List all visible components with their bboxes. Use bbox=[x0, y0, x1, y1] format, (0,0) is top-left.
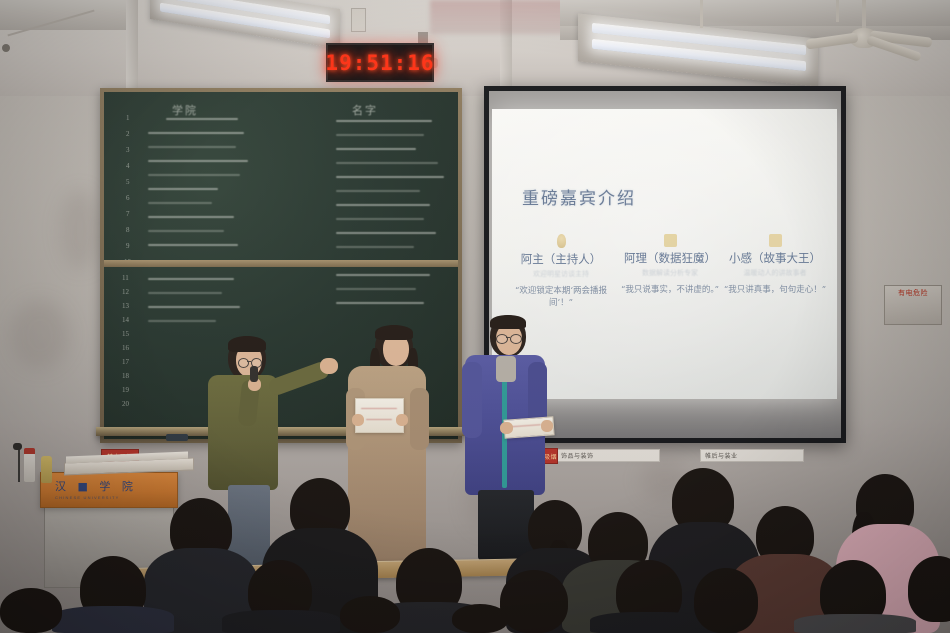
podium-front-panel: 汉 ■ 学 院 CHINESE UNIVERSITY bbox=[40, 472, 178, 508]
guest-name: 阿理（数据狂魔） bbox=[615, 251, 725, 266]
presenter-hand bbox=[396, 414, 408, 426]
slide-guest-column: 阿主（主持人） 欢迎明星访谈主持 “欢迎锁定本期‘两会播报间’！” bbox=[506, 234, 616, 309]
podium-microphone bbox=[13, 443, 22, 450]
audience-head bbox=[500, 570, 568, 633]
fixture-hanger bbox=[700, 0, 703, 28]
presenter-hand bbox=[500, 422, 513, 434]
hazard-sign-text: 有电危险 bbox=[898, 288, 928, 298]
fan-rod bbox=[862, 0, 866, 30]
inner-collar bbox=[496, 356, 516, 382]
tea-bottle bbox=[41, 456, 52, 483]
projected-slide: 重磅嘉宾介绍 阿主（主持人） 欢迎明星访谈主持 “欢迎锁定本期‘两会播报间’！”… bbox=[492, 109, 837, 399]
glasses-icon bbox=[510, 334, 522, 344]
presenter-arm bbox=[410, 388, 429, 450]
guest-name: 小感（故事大王） bbox=[720, 251, 830, 266]
presenter-legs bbox=[478, 490, 534, 560]
audience-head bbox=[694, 568, 758, 633]
wall-notice: 饰品与装饰 bbox=[556, 449, 660, 462]
clock-time-display: 19:51:16 bbox=[325, 51, 434, 75]
blackboard-left-heading: 学院 bbox=[172, 102, 198, 118]
audience-head bbox=[0, 588, 62, 633]
microphone-icon bbox=[557, 234, 566, 248]
book-icon bbox=[769, 234, 782, 247]
blackboard-right-heading: 名字 bbox=[352, 102, 378, 118]
audience-body bbox=[52, 606, 174, 633]
blackboard-eraser bbox=[166, 434, 188, 441]
glasses-icon bbox=[496, 334, 508, 344]
slide-title: 重磅嘉宾介绍 bbox=[522, 184, 636, 209]
wall-notice-text: 帷后与装业 bbox=[705, 451, 738, 460]
wall-junction-box bbox=[351, 8, 366, 32]
guest-name: 阿主（主持人） bbox=[506, 252, 616, 267]
podium-logo-text: 汉 ■ 学 院 bbox=[55, 478, 137, 494]
fixture-hanger bbox=[836, 0, 839, 22]
presenter-fringe bbox=[375, 325, 413, 340]
presenter-hand bbox=[541, 420, 553, 432]
glasses-bridge bbox=[247, 361, 251, 362]
electrical-hazard-sign: 有电危险 bbox=[884, 285, 942, 325]
wall-stain bbox=[60, 190, 100, 270]
led-wall-clock: 19:51:16 bbox=[326, 43, 434, 82]
ceiling-soffit bbox=[0, 0, 126, 30]
glasses-icon bbox=[238, 358, 249, 368]
ceiling-column bbox=[126, 0, 138, 96]
chart-icon bbox=[664, 234, 677, 247]
wire-anchor bbox=[2, 44, 10, 52]
slide-guest-column: 阿理（数据狂魔） 数据解读分析专家 “我只说事实，不讲虚的。” bbox=[615, 234, 725, 296]
wall-notice-text: 饰品与装饰 bbox=[561, 451, 594, 460]
audience-body bbox=[794, 614, 916, 633]
podium-logo-subtext: CHINESE UNIVERSITY bbox=[55, 495, 120, 500]
presenter-hand bbox=[352, 414, 364, 426]
wall-stain bbox=[10, 300, 70, 370]
podium-mic-stand bbox=[18, 448, 20, 482]
guest-quote: “我只讲真事，句句走心！” bbox=[720, 284, 830, 296]
glasses-bridge bbox=[506, 337, 510, 338]
presenter-hand bbox=[320, 358, 338, 374]
guest-subtitle: 欢迎明星访谈主持 bbox=[506, 269, 616, 280]
guest-subtitle: 温暖动人的讲故事者 bbox=[720, 268, 830, 279]
audience-head bbox=[340, 596, 400, 633]
handheld-microphone bbox=[250, 366, 258, 382]
guest-subtitle: 数据解读分析专家 bbox=[615, 268, 725, 279]
slide-guest-column: 小感（故事大王） 温暖动人的讲故事者 “我只讲真事，句句走心！” bbox=[720, 234, 830, 296]
wall-notice: 帷后与装业 bbox=[700, 449, 804, 462]
guest-quote: “欢迎锁定本期‘两会播报间’！” bbox=[506, 285, 616, 309]
presenter-arm bbox=[462, 362, 482, 438]
blackboard-rail bbox=[104, 260, 458, 267]
presenter-fringe bbox=[490, 315, 526, 329]
classroom-scene: 19:51:16 学院 1 2 3 4 5 6 7 8 9 10 bbox=[0, 0, 950, 633]
bottle-cap bbox=[24, 448, 35, 454]
audience-body bbox=[590, 612, 710, 633]
audience-head bbox=[452, 604, 508, 633]
presenter-fringe bbox=[228, 336, 266, 352]
guest-quote: “我只说事实，不讲虚的。” bbox=[615, 284, 725, 296]
water-bottle bbox=[24, 452, 35, 482]
audience-body bbox=[222, 610, 340, 633]
